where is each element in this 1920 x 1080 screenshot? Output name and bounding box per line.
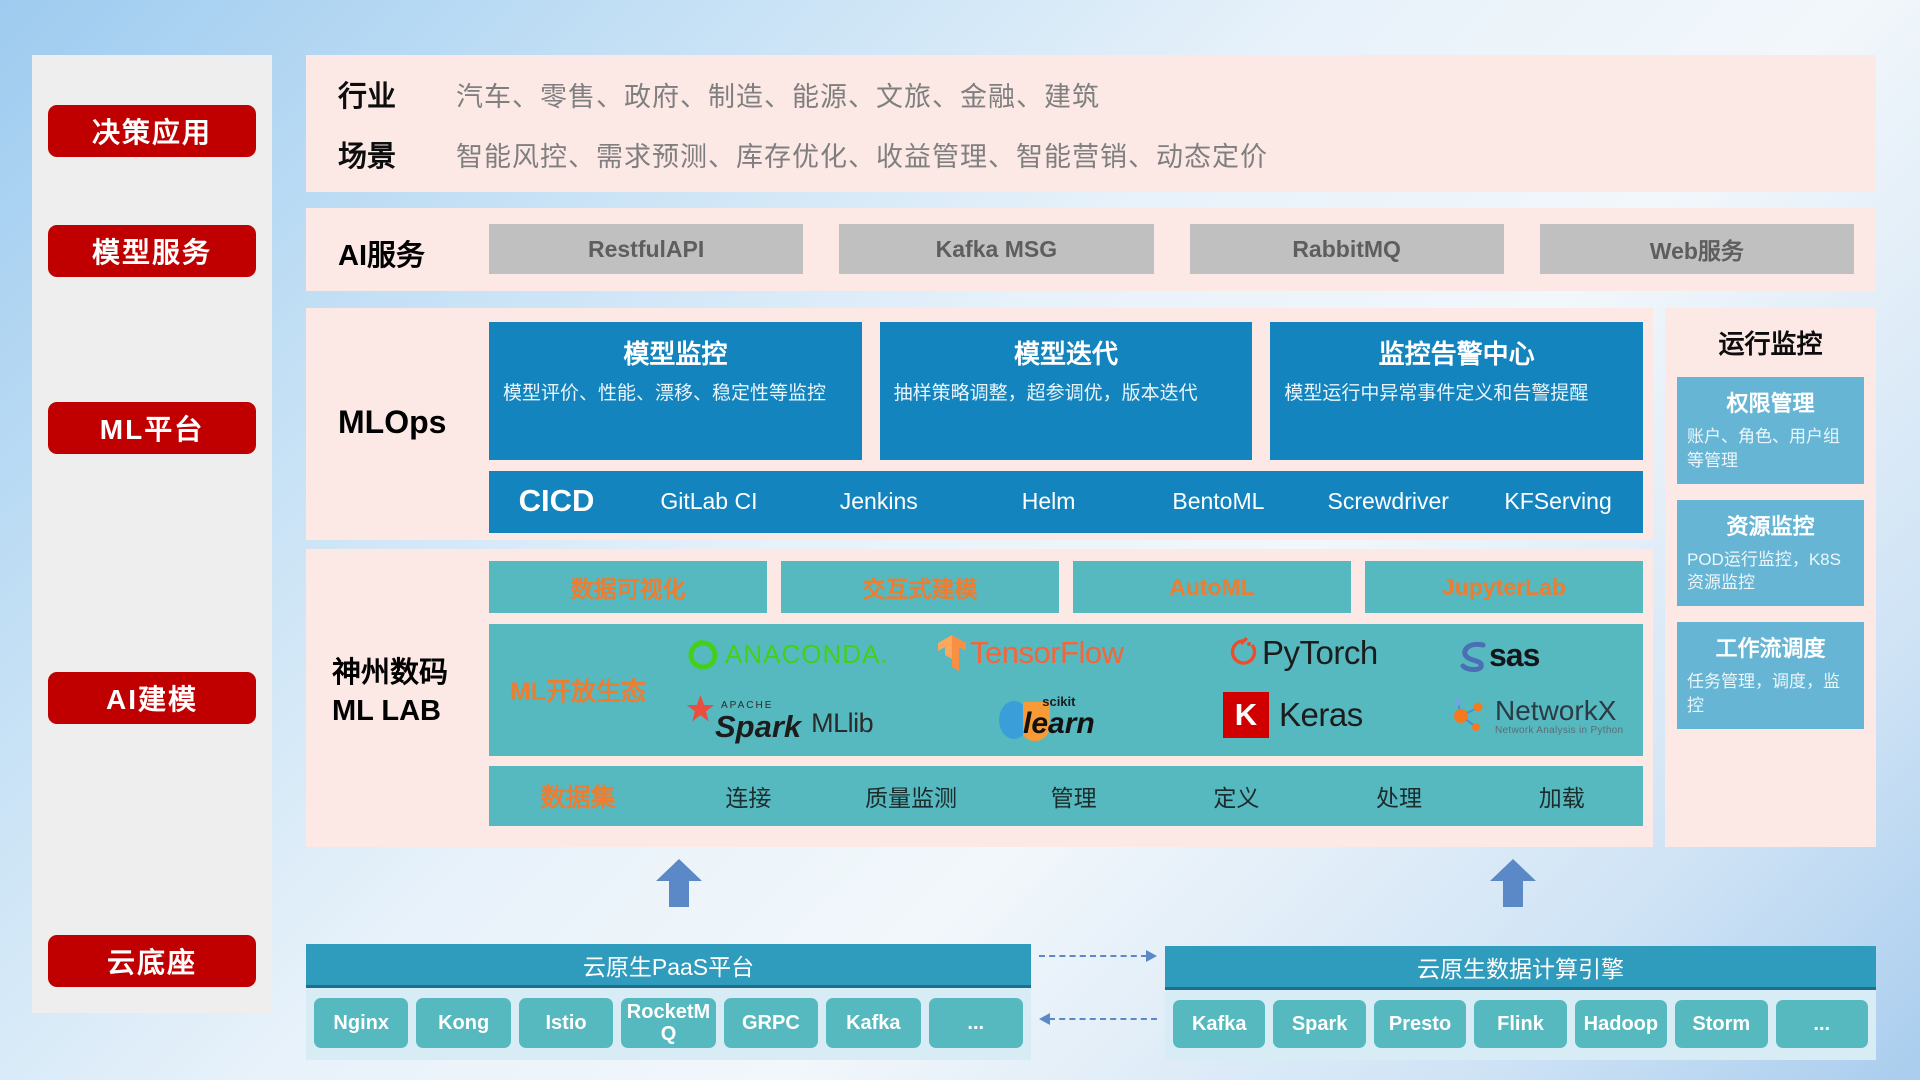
runtime-monitoring-panel: 运行监控 权限管理 账户、角色、用户组等管理 资源监控 POD运行监控，K8S资… <box>1665 308 1876 847</box>
mlops-card-alert-center[interactable]: 监控告警中心 模型运行中异常事件定义和告警提醒 <box>1270 322 1643 460</box>
monitor-card-permission-management[interactable]: 权限管理 账户、角色、用户组等管理 <box>1677 377 1864 484</box>
dataset-item-processing[interactable]: 处理 <box>1318 779 1481 813</box>
ai-service-chip-restfulapi[interactable]: RestfulAPI <box>489 224 803 274</box>
engine-item-flink[interactable]: Flink <box>1474 1000 1566 1048</box>
mlops-card-title: 模型监控 <box>503 334 848 371</box>
cloud-native-paas-item-list: Nginx Kong Istio RocketMQ GRPC Kafka ... <box>306 988 1031 1060</box>
mlops-label: MLOps <box>338 404 446 441</box>
mlops-card-model-iteration[interactable]: 模型迭代 抽样策略调整，超参调优，版本迭代 <box>880 322 1253 460</box>
dataset-item-quality-monitoring[interactable]: 质量监测 <box>830 779 993 813</box>
cloud-native-data-engine-title: 云原生数据计算引擎 <box>1165 946 1876 990</box>
ml-lab-label-line1: 神州数码 <box>332 655 448 693</box>
scenario-value: 智能风控、需求预测、库存优化、收益管理、智能营销、动态定价 <box>456 135 1268 174</box>
pytorch-logo: PyTorch <box>1229 634 1378 672</box>
engine-item-hadoop[interactable]: Hadoop <box>1575 1000 1667 1048</box>
dataset-title: 数据集 <box>489 778 667 814</box>
monitor-card-desc: 任务管理，调度，监控 <box>1687 670 1854 718</box>
cicd-title: CICD <box>489 471 624 519</box>
ai-service-chip-rabbitmq[interactable]: RabbitMQ <box>1190 224 1504 274</box>
sas-logo: sas <box>1457 637 1539 674</box>
sas-logo-text: sas <box>1489 637 1539 674</box>
anaconda-logo-text: ANACONDA. <box>725 639 889 670</box>
ai-service-panel: AI服务 RestfulAPI Kafka MSG RabbitMQ Web服务 <box>306 208 1876 291</box>
layer-chip-ai-modeling[interactable]: AI建模 <box>48 672 256 724</box>
engine-up-arrow-icon <box>1490 859 1536 907</box>
scenario-row: 场景 智能风控、需求预测、库存优化、收益管理、智能营销、动态定价 <box>306 133 1268 175</box>
cicd-item-gitlab-ci[interactable]: GitLab CI <box>624 471 794 514</box>
mlops-card-desc: 模型评价、性能、漂移、稳定性等监控 <box>503 380 848 408</box>
scikit-learn-logo: scikit learn <box>997 692 1053 744</box>
tool-chip-automl[interactable]: AutoML <box>1073 561 1351 613</box>
tool-chip-interactive-modeling[interactable]: 交互式建模 <box>781 561 1059 613</box>
mlops-panel: MLOps 模型监控 模型评价、性能、漂移、稳定性等监控 模型迭代 抽样策略调整… <box>306 308 1653 540</box>
layer-chip-label: 云底座 <box>107 941 197 981</box>
engine-item-more[interactable]: ... <box>1776 1000 1868 1048</box>
ai-service-label: AI服务 <box>338 232 425 274</box>
learn-logo-text: learn <box>1023 709 1095 739</box>
pytorch-logo-text: PyTorch <box>1262 634 1378 672</box>
ml-lab-label: 神州数码 ML LAB <box>332 655 448 730</box>
ai-service-chip-kafka-msg[interactable]: Kafka MSG <box>839 224 1153 274</box>
anaconda-logo: ANACONDA. <box>685 636 889 672</box>
engine-item-kafka[interactable]: Kafka <box>1173 1000 1265 1048</box>
networkx-logo-text: NetworkX <box>1495 697 1623 725</box>
paas-item-kong[interactable]: Kong <box>416 998 510 1048</box>
cloud-native-paas-group: 云原生PaaS平台 Nginx Kong Istio RocketMQ GRPC… <box>306 944 1031 1060</box>
ml-lab-panel: 神州数码 ML LAB 数据可视化 交互式建模 AutoML JupyterLa… <box>306 549 1653 847</box>
networkx-logo-subtext: Network Analysis in Python <box>1495 725 1623 736</box>
ml-lab-label-line2: ML LAB <box>332 693 448 731</box>
mlops-card-title: 模型迭代 <box>894 334 1239 371</box>
scenario-label: 场景 <box>306 133 456 175</box>
paas-item-more[interactable]: ... <box>929 998 1023 1048</box>
layer-chip-decision[interactable]: 决策应用 <box>48 105 256 157</box>
monitor-card-title: 工作流调度 <box>1687 631 1854 663</box>
layer-chip-cloud-base[interactable]: 云底座 <box>48 935 256 987</box>
layer-chip-label: 模型服务 <box>92 231 212 271</box>
industry-row: 行业 汽车、零售、政府、制造、能源、文旅、金融、建筑 <box>306 73 1100 115</box>
dataset-row: 数据集 连接 质量监测 管理 定义 处理 加载 <box>489 766 1643 826</box>
keras-logo: K Keras <box>1223 692 1363 738</box>
cicd-item-bentoml[interactable]: BentoML <box>1133 471 1303 514</box>
tensorflow-logo: TensorFlow <box>937 633 1124 673</box>
dataset-item-definition[interactable]: 定义 <box>1155 779 1318 813</box>
cicd-item-jenkins[interactable]: Jenkins <box>794 471 964 514</box>
ml-lab-tool-list: 数据可视化 交互式建模 AutoML JupyterLab <box>489 561 1643 613</box>
industry-value: 汽车、零售、政府、制造、能源、文旅、金融、建筑 <box>456 75 1100 114</box>
monitor-card-title: 权限管理 <box>1687 386 1854 418</box>
architecture-diagram: 决策应用 模型服务 ML平台 AI建模 云底座 行业 汽车、零售、政府、制造、能… <box>0 0 1920 1080</box>
cicd-item-screwdriver[interactable]: Screwdriver <box>1303 471 1473 514</box>
tool-chip-data-visualization[interactable]: 数据可视化 <box>489 561 767 613</box>
mlops-card-list: 模型监控 模型评价、性能、漂移、稳定性等监控 模型迭代 抽样策略调整，超参调优，… <box>489 322 1643 460</box>
layer-rail <box>32 55 272 1013</box>
spark-mllib-logo: APACHE Spark MLlib <box>677 694 873 742</box>
ml-open-ecosystem-band: ML开放生态 ANACONDA. <box>489 624 1643 756</box>
mlops-card-desc: 抽样策略调整，超参调优，版本迭代 <box>894 380 1239 408</box>
mlops-card-model-monitoring[interactable]: 模型监控 模型评价、性能、漂移、稳定性等监控 <box>489 322 862 460</box>
monitor-card-title: 资源监控 <box>1687 509 1854 541</box>
ml-open-ecosystem-title: ML开放生态 <box>489 672 667 708</box>
monitor-card-workflow-scheduling[interactable]: 工作流调度 任务管理，调度，监控 <box>1677 622 1864 729</box>
layer-chip-label: AI建模 <box>106 678 198 718</box>
runtime-monitoring-title: 运行监控 <box>1665 308 1876 361</box>
layer-chip-label: ML平台 <box>100 408 204 448</box>
ml-open-ecosystem-logo-grid: ANACONDA. TensorFlow <box>667 624 1643 756</box>
cloud-native-paas-title: 云原生PaaS平台 <box>306 944 1031 988</box>
dataset-item-management[interactable]: 管理 <box>992 779 1155 813</box>
spark-logo-text: Spark <box>715 711 801 742</box>
layer-chip-model-service[interactable]: 模型服务 <box>48 225 256 277</box>
dataset-item-loading[interactable]: 加载 <box>1480 779 1643 813</box>
paas-to-engine-arrow-icon <box>1039 955 1157 957</box>
ai-service-chip-list: RestfulAPI Kafka MSG RabbitMQ Web服务 <box>489 224 1854 274</box>
tool-chip-jupyterlab[interactable]: JupyterLab <box>1365 561 1643 613</box>
keras-mark: K <box>1223 692 1269 738</box>
layer-chip-ml-platform[interactable]: ML平台 <box>48 402 256 454</box>
paas-item-kafka[interactable]: Kafka <box>826 998 920 1048</box>
monitor-card-desc: 账户、角色、用户组等管理 <box>1687 425 1854 473</box>
cloud-native-data-engine-item-list: Kafka Spark Presto Flink Hadoop Storm ..… <box>1165 990 1876 1060</box>
dataset-item-connect[interactable]: 连接 <box>667 779 830 813</box>
cicd-bar: CICD GitLab CI Jenkins Helm BentoML Scre… <box>489 471 1643 533</box>
layer-chip-label: 决策应用 <box>92 111 212 151</box>
networkx-logo: NetworkX Network Analysis in Python <box>1449 696 1623 736</box>
paas-item-nginx[interactable]: Nginx <box>314 998 408 1048</box>
mlops-card-title: 监控告警中心 <box>1284 334 1629 371</box>
mllib-logo-text: MLlib <box>811 708 873 739</box>
engine-item-presto[interactable]: Presto <box>1374 1000 1466 1048</box>
paas-item-istio[interactable]: Istio <box>519 998 613 1048</box>
ai-service-chip-web[interactable]: Web服务 <box>1540 224 1854 274</box>
industry-label: 行业 <box>306 73 456 115</box>
cicd-item-kfserving[interactable]: KFServing <box>1473 471 1643 514</box>
monitor-card-desc: POD运行监控，K8S资源监控 <box>1687 548 1854 596</box>
tensorflow-logo-text: TensorFlow <box>970 635 1124 671</box>
cicd-item-helm[interactable]: Helm <box>964 471 1134 514</box>
monitor-card-resource-monitoring[interactable]: 资源监控 POD运行监控，K8S资源监控 <box>1677 500 1864 607</box>
mlops-card-desc: 模型运行中异常事件定义和告警提醒 <box>1284 380 1629 408</box>
paas-item-grpc[interactable]: GRPC <box>724 998 818 1048</box>
engine-item-storm[interactable]: Storm <box>1675 1000 1767 1048</box>
engine-to-paas-arrow-icon <box>1039 1018 1157 1020</box>
decision-application-panel: 行业 汽车、零售、政府、制造、能源、文旅、金融、建筑 场景 智能风控、需求预测、… <box>306 55 1876 192</box>
paas-item-rocketmq[interactable]: RocketMQ <box>621 998 715 1048</box>
cloud-native-data-engine-group: 云原生数据计算引擎 Kafka Spark Presto Flink Hadoo… <box>1165 946 1876 1060</box>
engine-item-spark[interactable]: Spark <box>1273 1000 1365 1048</box>
keras-logo-text: Keras <box>1279 696 1363 734</box>
paas-up-arrow-icon <box>656 859 702 907</box>
